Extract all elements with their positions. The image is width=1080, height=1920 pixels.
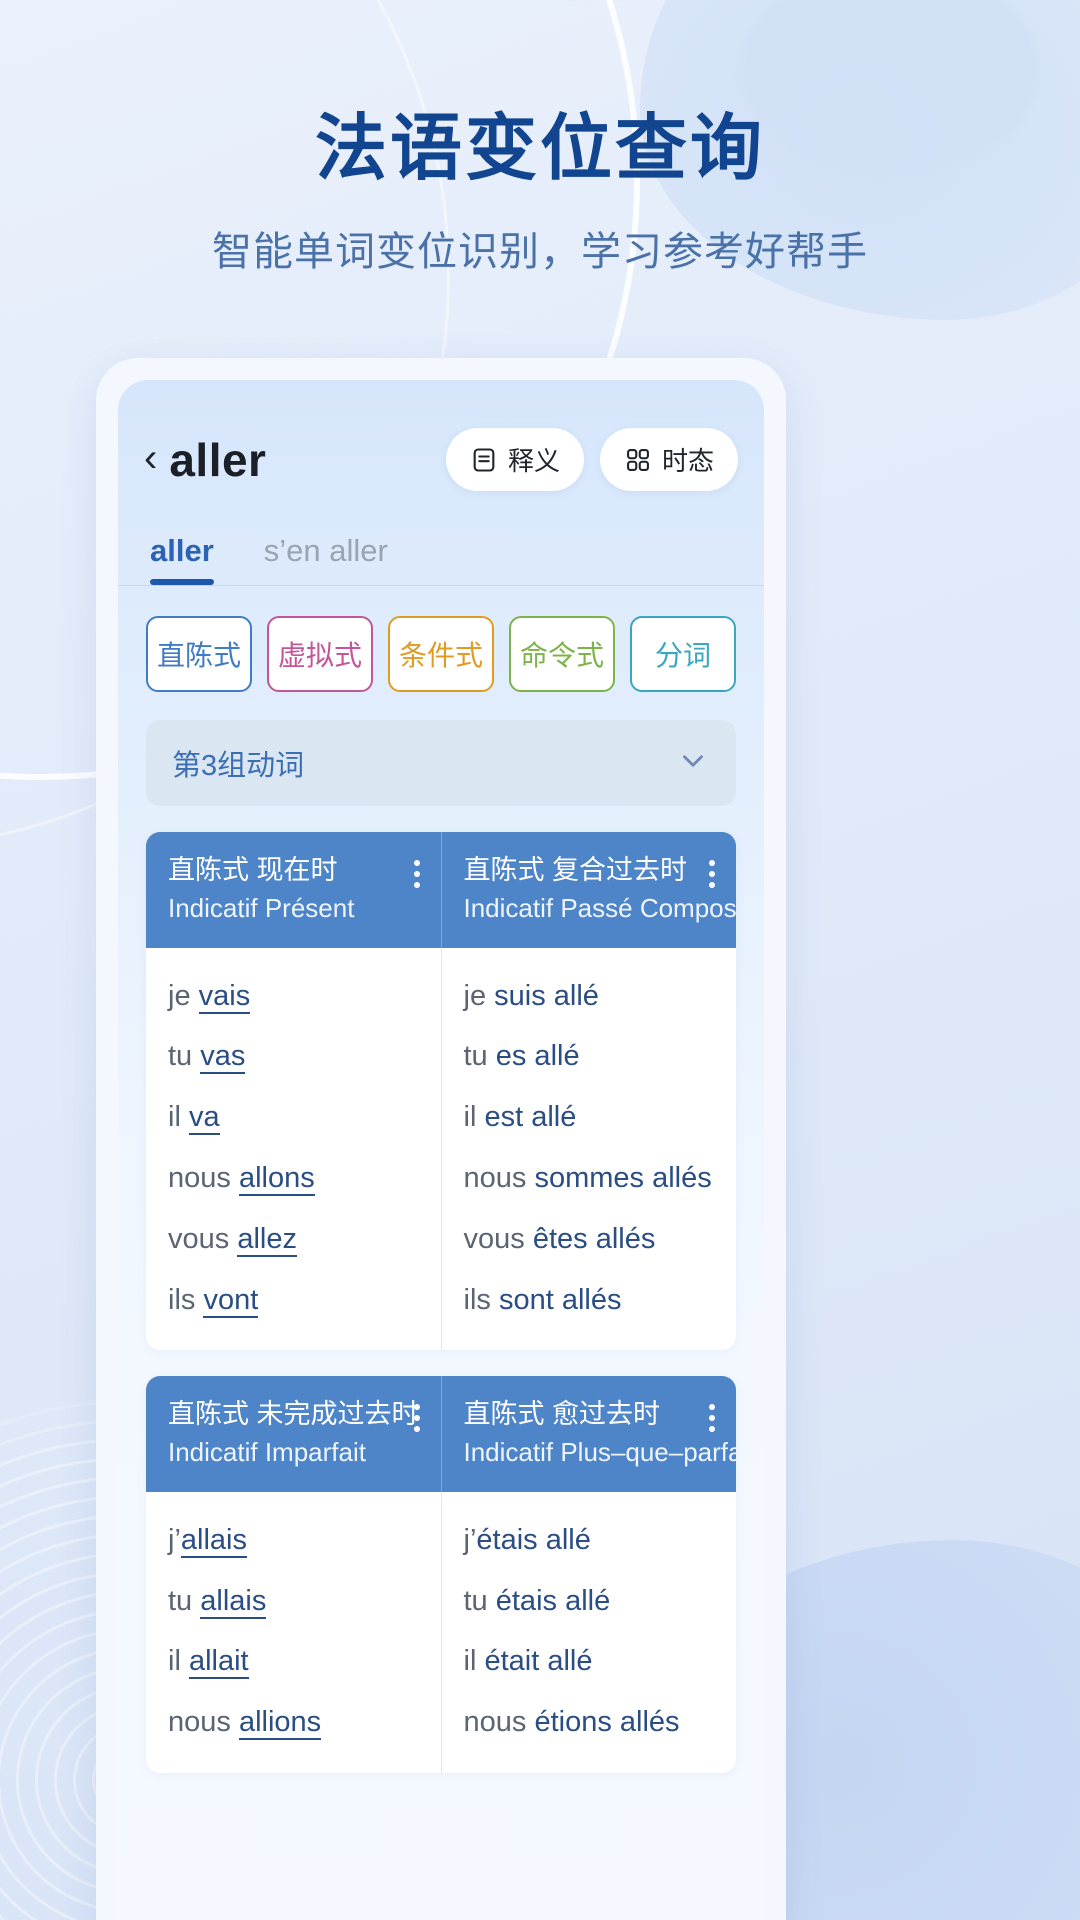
- pronoun: tu: [464, 1585, 496, 1617]
- verb-form: vas: [200, 1040, 245, 1074]
- pronoun: nous: [168, 1162, 239, 1194]
- pronoun: j’: [464, 1524, 477, 1556]
- conjugation-row: nous étions allés: [442, 1692, 737, 1753]
- conjugation-row: vous allez: [146, 1209, 441, 1270]
- tense-title-cn: 直陈式 复合过去时: [464, 854, 701, 888]
- conjugation-card-header: 直陈式 未完成过去时Indicatif Imparfait直陈式 愈过去时Ind…: [146, 1376, 736, 1492]
- verb-group-label: 第3组动词: [172, 742, 304, 784]
- verb-form: suis allé: [494, 980, 599, 1012]
- pronoun: nous: [464, 1706, 535, 1738]
- conjugation-row: nous allions: [146, 1692, 441, 1753]
- hero-text-block: 法语变位查询 智能单词变位识别，学习参考好帮手: [0, 110, 1080, 277]
- conjugation-row: j’étais allé: [442, 1510, 737, 1571]
- conjugation-row: tu es allé: [442, 1026, 737, 1087]
- pronoun: je: [168, 980, 199, 1012]
- tense-title-cn: 直陈式 未完成过去时: [168, 1398, 405, 1432]
- verb-tabs: aller s’en aller: [118, 491, 764, 586]
- conjugation-card: 直陈式 现在时Indicatif Présent直陈式 复合过去时Indicat…: [146, 832, 736, 1350]
- tense-title-cn: 直陈式 现在时: [168, 854, 405, 888]
- verb-form: sommes allés: [534, 1162, 711, 1194]
- chevron-down-icon: [676, 744, 710, 783]
- verb-form: es allé: [496, 1040, 580, 1072]
- pronoun: il: [464, 1645, 485, 1677]
- grid-icon: [624, 446, 652, 474]
- verb-form: allais: [200, 1585, 266, 1619]
- tense-title-cn: 直陈式 愈过去时: [464, 1398, 701, 1432]
- pronoun: vous: [168, 1223, 237, 1255]
- conjugation-column-header: 直陈式 愈过去时Indicatif Plus–que–parfait: [441, 1376, 737, 1492]
- back-chevron-icon[interactable]: ‹: [144, 438, 157, 478]
- conjugation-row: il allait: [146, 1631, 441, 1692]
- more-options-icon[interactable]: [708, 1398, 716, 1432]
- chip-indicatif[interactable]: 直陈式: [146, 616, 252, 692]
- conjugation-column: je vaistu vasil vanous allonsvous allezi…: [146, 948, 441, 1351]
- tense-title-fr: Indicatif Passé Composé: [464, 892, 701, 926]
- conjugation-card-header: 直陈式 现在时Indicatif Présent直陈式 复合过去时Indicat…: [146, 832, 736, 948]
- pronoun: je: [464, 980, 495, 1012]
- verb-form: était allé: [484, 1645, 592, 1677]
- verb-form: sont allés: [499, 1284, 622, 1316]
- verb-form: allait: [189, 1645, 249, 1679]
- header-actions: 释义 时态: [446, 428, 738, 491]
- conjugation-column-header: 直陈式 未完成过去时Indicatif Imparfait: [146, 1376, 441, 1492]
- conjugation-row: il est allé: [442, 1087, 737, 1148]
- verb-form: allez: [237, 1223, 297, 1257]
- verb-form: allais: [181, 1524, 247, 1558]
- verb-form: êtes allés: [533, 1223, 656, 1255]
- verb-form: allons: [239, 1162, 315, 1196]
- verb-form: étais allé: [476, 1524, 590, 1556]
- app-header: ‹ aller 释义: [118, 380, 764, 491]
- phone-screen: ‹ aller 释义: [118, 380, 764, 1920]
- phone-mockup: ‹ aller 释义: [96, 358, 786, 1920]
- pronoun: tu: [168, 1040, 200, 1072]
- pronoun: j’: [168, 1524, 181, 1556]
- pronoun: nous: [168, 1706, 239, 1738]
- verb-form: vais: [199, 980, 251, 1014]
- tab-aller[interactable]: aller: [150, 533, 214, 585]
- tense-title-fr: Indicatif Présent: [168, 892, 405, 926]
- conjugation-row: nous allons: [146, 1148, 441, 1209]
- verb-form: étais allé: [496, 1585, 610, 1617]
- pronoun: tu: [168, 1585, 200, 1617]
- conjugation-row: ils vont: [146, 1270, 441, 1331]
- conjugation-row: je suis allé: [442, 966, 737, 1027]
- conjugation-row: je vais: [146, 966, 441, 1027]
- conjugation-card: 直陈式 未完成过去时Indicatif Imparfait直陈式 愈过去时Ind…: [146, 1376, 736, 1773]
- tense-title-fr: Indicatif Plus–que–parfait: [464, 1436, 701, 1470]
- pronoun: ils: [464, 1284, 499, 1316]
- pronoun: il: [168, 1101, 189, 1133]
- conjugation-row: il va: [146, 1087, 441, 1148]
- conjugation-card-body: je vaistu vasil vanous allonsvous allezi…: [146, 948, 736, 1351]
- verb-form: allions: [239, 1706, 321, 1740]
- word-title: aller: [169, 433, 266, 487]
- pronoun: il: [464, 1101, 485, 1133]
- conjugation-row: il était allé: [442, 1631, 737, 1692]
- conjugation-row: tu vas: [146, 1026, 441, 1087]
- conjugation-row: nous sommes allés: [442, 1148, 737, 1209]
- conjugation-card-body: j’allaistu allaisil allaitnous allionsj’…: [146, 1492, 736, 1773]
- conjugation-row: vous êtes allés: [442, 1209, 737, 1270]
- chip-imperatif[interactable]: 命令式: [509, 616, 615, 692]
- pronoun: vous: [464, 1223, 533, 1255]
- conjugation-row: j’allais: [146, 1510, 441, 1571]
- page-subtitle: 智能单词变位识别，学习参考好帮手: [0, 219, 1080, 277]
- tense-button[interactable]: 时态: [600, 428, 738, 491]
- page-title: 法语变位查询: [0, 110, 1080, 189]
- pronoun: nous: [464, 1162, 535, 1194]
- conjugation-row: tu allais: [146, 1571, 441, 1632]
- more-options-icon[interactable]: [413, 854, 421, 888]
- chip-conditionnel[interactable]: 条件式: [388, 616, 494, 692]
- conjugation-row: ils sont allés: [442, 1270, 737, 1331]
- conjugation-row: tu étais allé: [442, 1571, 737, 1632]
- conjugation-column: je suis allétu es alléil est allénous so…: [441, 948, 737, 1351]
- list-doc-icon: [470, 446, 498, 474]
- chip-subjonctif[interactable]: 虚拟式: [267, 616, 373, 692]
- chip-participe[interactable]: 分词: [630, 616, 736, 692]
- conjugation-cards: 直陈式 现在时Indicatif Présent直陈式 复合过去时Indicat…: [118, 832, 764, 1773]
- pronoun: il: [168, 1645, 189, 1677]
- more-options-icon[interactable]: [708, 854, 716, 888]
- verb-group-select[interactable]: 第3组动词: [146, 720, 736, 806]
- mood-chips: 直陈式 虚拟式 条件式 命令式 分词: [118, 586, 764, 692]
- conjugation-column-header: 直陈式 现在时Indicatif Présent: [146, 832, 441, 948]
- conjugation-column: j’étais allétu étais alléil était alléno…: [441, 1492, 737, 1773]
- definition-button-label: 释义: [508, 441, 560, 478]
- conjugation-column-header: 直陈式 复合过去时Indicatif Passé Composé: [441, 832, 737, 948]
- tab-sen-aller[interactable]: s’en aller: [264, 533, 388, 585]
- pronoun: ils: [168, 1284, 203, 1316]
- conjugation-column: j’allaistu allaisil allaitnous allions: [146, 1492, 441, 1773]
- pronoun: tu: [464, 1040, 496, 1072]
- tense-title-fr: Indicatif Imparfait: [168, 1436, 405, 1470]
- verb-form: vont: [203, 1284, 258, 1318]
- verb-form: étions allés: [534, 1706, 679, 1738]
- definition-button[interactable]: 释义: [446, 428, 584, 491]
- more-options-icon[interactable]: [413, 1398, 421, 1432]
- verb-form: est allé: [484, 1101, 576, 1133]
- verb-form: va: [189, 1101, 220, 1135]
- tense-button-label: 时态: [662, 441, 714, 478]
